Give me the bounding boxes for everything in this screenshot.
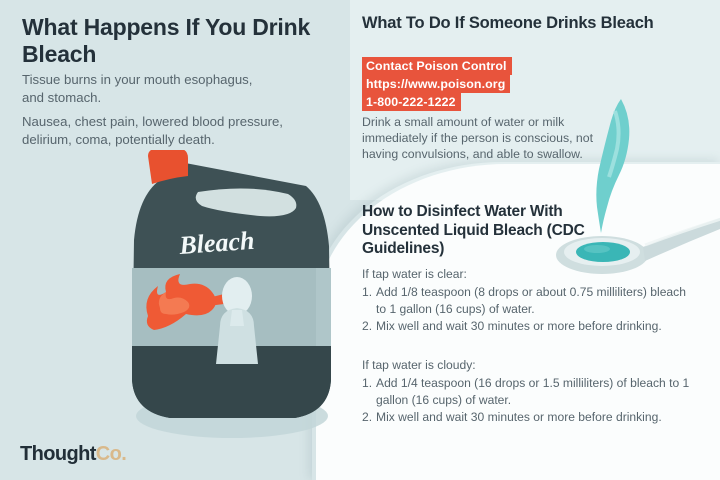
step-text: Add 1/4 teaspoon (16 drops or 1.5 millil… xyxy=(376,376,689,406)
spoon-and-droplet-illustration xyxy=(545,95,720,285)
logo-text-co: Co. xyxy=(96,443,126,465)
list-item: 2. Mix well and wait 30 minutes or more … xyxy=(362,318,692,334)
left-paragraph-symptoms-1: Tissue burns in your mouth esophagus, an… xyxy=(22,71,272,106)
list-item: 1. Add 1/4 teaspoon (16 drops or 1.5 mil… xyxy=(362,375,698,408)
thoughtco-logo: ThoughtCo. xyxy=(20,443,126,466)
cloudy-water-heading: If tap water is cloudy: xyxy=(362,357,698,373)
list-item: 2. Mix well and wait 30 minutes or more … xyxy=(362,409,698,425)
infographic-canvas: Bleach What Happens If You Drink Bleach … xyxy=(0,0,720,480)
step-number: 1. xyxy=(362,375,372,391)
step-number: 1. xyxy=(362,284,372,300)
bottle-label-text: Bleach xyxy=(177,226,255,260)
poison-control-phone[interactable]: 1-800-222-1222 xyxy=(362,93,461,111)
poison-control-url[interactable]: https://www.poison.org xyxy=(362,75,510,93)
left-heading: What Happens If You Drink Bleach xyxy=(22,14,322,68)
poison-control-highlight-block: Contact Poison Control https://www.poiso… xyxy=(362,57,572,111)
step-number: 2. xyxy=(362,409,372,425)
step-number: 2. xyxy=(362,318,372,334)
cloudy-water-instructions: If tap water is cloudy: 1. Add 1/4 teasp… xyxy=(362,357,698,427)
bleach-bottle-illustration: Bleach xyxy=(120,150,350,440)
left-paragraph-symptoms-2: Nausea, chest pain, lowered blood pressu… xyxy=(22,113,287,148)
poison-control-label: Contact Poison Control xyxy=(362,57,512,75)
right-top-heading: What To Do If Someone Drinks Bleach xyxy=(362,14,662,34)
step-text: Add 1/8 teaspoon (8 drops or about 0.75 … xyxy=(376,285,686,315)
step-text: Mix well and wait 30 minutes or more bef… xyxy=(376,319,662,333)
list-item: 1. Add 1/8 teaspoon (8 drops or about 0.… xyxy=(362,284,692,317)
logo-text-thought: Thought xyxy=(20,443,96,465)
step-text: Mix well and wait 30 minutes or more bef… xyxy=(376,410,662,424)
